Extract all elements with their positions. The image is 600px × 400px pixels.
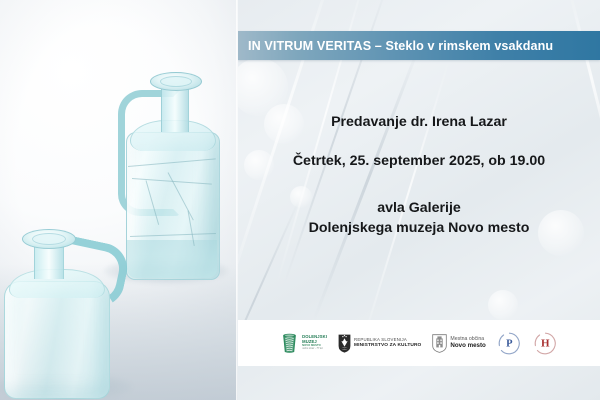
jug-squat-rim-opening [32, 233, 66, 245]
museum-vessel-icon [280, 332, 299, 354]
logo-mestna-obcina-novo-mesto: Mestna občina Novo mesto [432, 334, 485, 353]
poster-body-text: Predavanje dr. Irena Lazar Četrtek, 25. … [238, 112, 600, 238]
logo-ministrstvo-za-kulturo: REPUBLIKA SLOVENIJA MINISTRSTVO ZA KULTU… [338, 334, 421, 353]
venue-line-2: Dolenjskega muzeja Novo mesto [238, 218, 600, 238]
glass-jug-squat [2, 215, 130, 395]
logo-p-monogram: P [497, 331, 522, 356]
novo-mesto-crest-icon [432, 334, 447, 353]
mk-line-1: REPUBLIKA SLOVENIJA [354, 338, 421, 343]
logo-mestna-obcina-text: Mestna občina Novo mesto [450, 337, 485, 350]
mk-line-2: MINISTRSTVO ZA KULTURO [354, 343, 421, 348]
venue-line-1: avla Galerije [238, 198, 600, 218]
slovenia-coat-of-arms-icon [338, 334, 351, 353]
jug-squat-body [4, 281, 110, 399]
logo-ministrstvo-text: REPUBLIKA SLOVENIJA MINISTRSTVO ZA KULTU… [354, 338, 421, 349]
event-poster: IN VITRUM VERITAS – Steklo v rimskem vsa… [0, 0, 600, 400]
event-datetime: Četrtek, 25. september 2025, ob 19.00 [238, 151, 600, 172]
jug-tall-rim-opening [160, 76, 192, 87]
mo-line-2: Novo mesto [450, 343, 485, 350]
logo-dolenjski-muzej-text: DOLENJSKI MUZEJ NOVO MESTO mikro izraz -… [302, 335, 327, 351]
roman-glass-photo [0, 0, 238, 400]
logo-h-monogram: H [533, 331, 558, 356]
poster-title-banner: IN VITRUM VERITAS – Steklo v rimskem vsa… [238, 31, 600, 60]
jug-tall-lower-band [127, 240, 217, 278]
h-monogram-letter: H [541, 337, 550, 349]
event-speaker: Predavanje dr. Irena Lazar [238, 112, 600, 132]
event-venue: avla Galerije Dolenjskega muzeja Novo me… [238, 198, 600, 238]
logo-dolenjski-muzej: DOLENJSKI MUZEJ NOVO MESTO mikro izraz -… [280, 332, 327, 354]
poster-title: IN VITRUM VERITAS – Steklo v rimskem vsa… [238, 39, 553, 53]
bokeh-dot [488, 290, 518, 320]
dm-line-4: mikro izraz - 77 let [302, 348, 327, 351]
sponsor-logo-bar: DOLENJSKI MUZEJ NOVO MESTO mikro izraz -… [238, 320, 600, 366]
content-panel: IN VITRUM VERITAS – Steklo v rimskem vsa… [238, 0, 600, 400]
p-monogram-letter: P [506, 338, 513, 349]
